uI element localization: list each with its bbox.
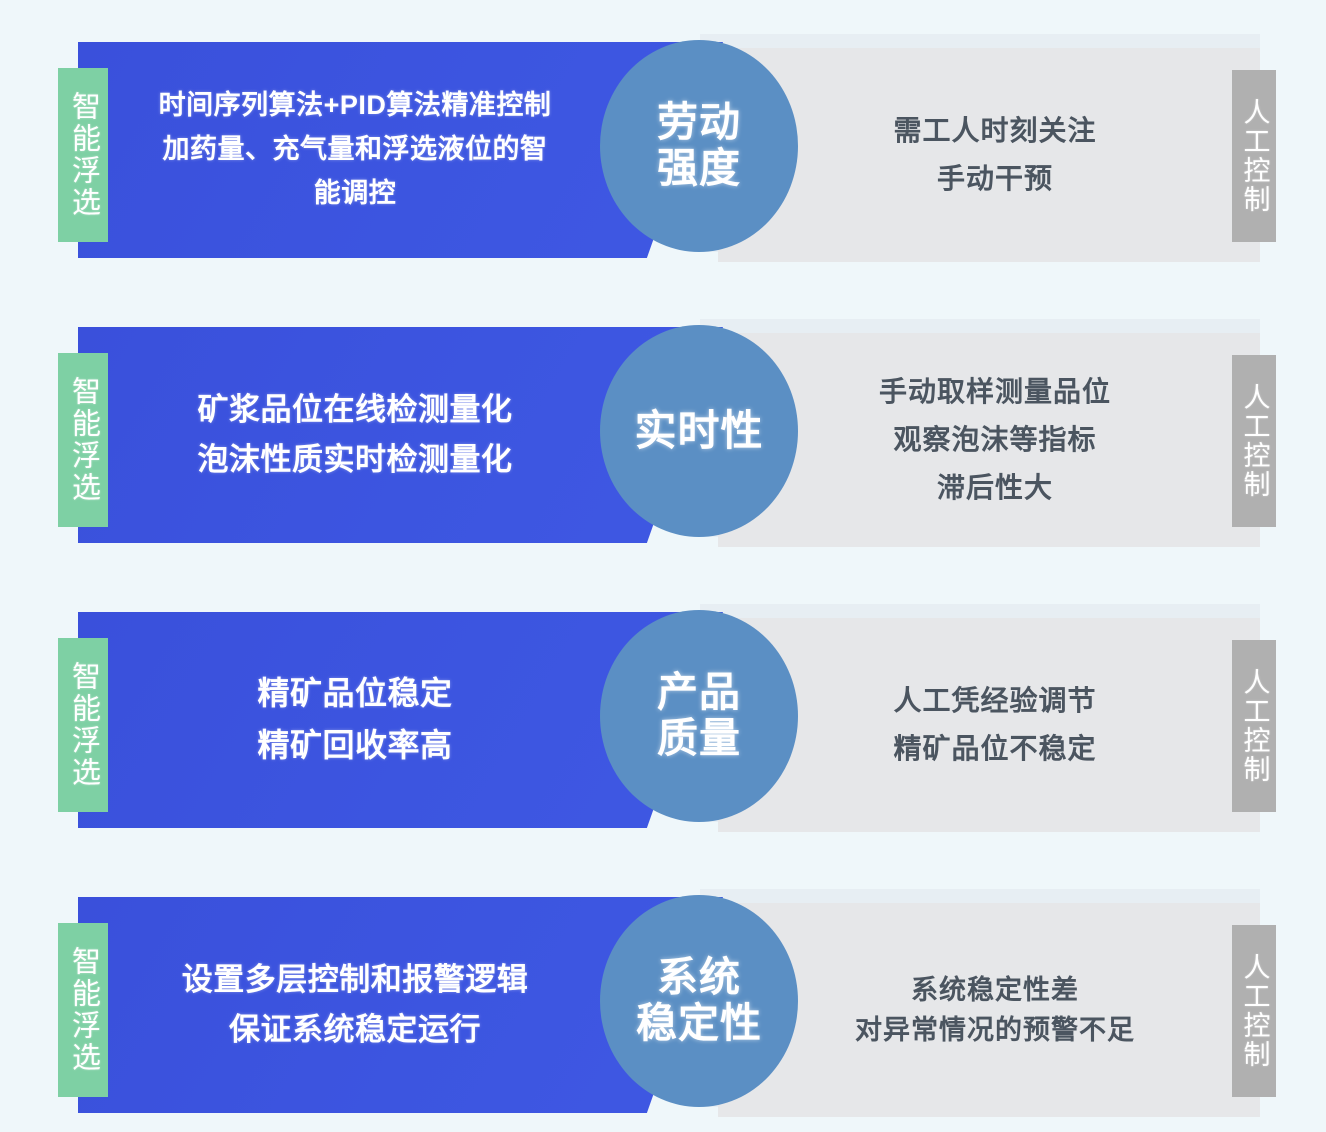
manual-line: 系统稳定性差	[911, 970, 1079, 1011]
category-badge: 劳动 强度	[600, 40, 798, 252]
infographic-canvas: 智能浮选 时间序列算法+PID算法精准控制 加药量、充气量和浮选液位的智 能调控…	[0, 0, 1326, 1132]
category-badge-line: 系统	[657, 955, 741, 1001]
manual-side-tab-label: 人工控制	[1241, 953, 1268, 1069]
manual-line: 手动干预	[937, 155, 1053, 203]
category-badge: 实时性	[600, 325, 798, 537]
smart-line: 保证系统稳定运行	[229, 1005, 481, 1055]
smart-description: 时间序列算法+PID算法精准控制 加药量、充气量和浮选液位的智 能调控	[100, 42, 610, 258]
manual-side-tab-label: 人工控制	[1241, 98, 1268, 214]
smart-description: 矿浆品位在线检测量化 泡沫性质实时检测量化	[100, 327, 610, 543]
smart-line: 能调控	[314, 172, 397, 216]
manual-description: 手动取样测量品位 观察泡沫等指标 滞后性大	[775, 333, 1215, 547]
category-badge-line: 产品	[657, 670, 741, 716]
comparison-row: 智能浮选 设置多层控制和报警逻辑 保证系统稳定运行 系统 稳定性 系统稳定性差 …	[0, 885, 1326, 1125]
category-badge-line: 实时性	[634, 407, 763, 454]
manual-line: 观察泡沫等指标	[893, 416, 1096, 464]
manual-line: 滞后性大	[937, 464, 1053, 512]
manual-description: 系统稳定性差 对异常情况的预警不足	[775, 903, 1215, 1117]
manual-side-tab-label: 人工控制	[1241, 668, 1268, 784]
manual-line: 精矿品位不稳定	[893, 725, 1096, 773]
manual-side-tab-label: 人工控制	[1241, 383, 1268, 499]
smart-side-tab-label: 智能浮选	[69, 946, 98, 1074]
smart-line: 时间序列算法+PID算法精准控制	[159, 84, 552, 128]
comparison-row: 智能浮选 精矿品位稳定 精矿回收率高 产品 质量 人工凭经验调节 精矿品位不稳定…	[0, 600, 1326, 840]
category-badge-line: 劳动	[657, 100, 741, 146]
comparison-row: 智能浮选 矿浆品位在线检测量化 泡沫性质实时检测量化 实时性 手动取样测量品位 …	[0, 315, 1326, 555]
manual-line: 手动取样测量品位	[879, 368, 1111, 416]
category-badge-line: 稳定性	[636, 1001, 762, 1047]
manual-line: 对异常情况的预警不足	[855, 1010, 1135, 1051]
manual-side-tab: 人工控制	[1232, 355, 1276, 527]
smart-line: 泡沫性质实时检测量化	[198, 435, 513, 485]
category-badge: 产品 质量	[600, 610, 798, 822]
category-badge-line: 质量	[657, 716, 741, 762]
smart-side-tab: 智能浮选	[58, 68, 108, 242]
smart-line: 精矿回收率高	[257, 720, 452, 772]
smart-line: 矿浆品位在线检测量化	[198, 385, 513, 435]
smart-side-tab: 智能浮选	[58, 353, 108, 527]
category-badge: 系统 稳定性	[600, 895, 798, 1107]
category-badge-line: 强度	[657, 146, 741, 192]
smart-side-tab-label: 智能浮选	[69, 376, 98, 504]
comparison-row: 智能浮选 时间序列算法+PID算法精准控制 加药量、充气量和浮选液位的智 能调控…	[0, 30, 1326, 270]
manual-side-tab: 人工控制	[1232, 925, 1276, 1097]
manual-description: 人工凭经验调节 精矿品位不稳定	[775, 618, 1215, 832]
smart-description: 设置多层控制和报警逻辑 保证系统稳定运行	[100, 897, 610, 1113]
smart-line: 精矿品位稳定	[257, 668, 452, 720]
smart-side-tab-label: 智能浮选	[69, 91, 98, 219]
manual-description: 需工人时刻关注 手动干预	[775, 48, 1215, 262]
smart-side-tab: 智能浮选	[58, 638, 108, 812]
smart-side-tab: 智能浮选	[58, 923, 108, 1097]
smart-line: 设置多层控制和报警逻辑	[182, 955, 529, 1005]
manual-side-tab: 人工控制	[1232, 70, 1276, 242]
smart-line: 加药量、充气量和浮选液位的智	[163, 128, 548, 172]
smart-description: 精矿品位稳定 精矿回收率高	[100, 612, 610, 828]
manual-line: 需工人时刻关注	[893, 107, 1096, 155]
manual-side-tab: 人工控制	[1232, 640, 1276, 812]
smart-side-tab-label: 智能浮选	[69, 661, 98, 789]
manual-line: 人工凭经验调节	[893, 677, 1096, 725]
